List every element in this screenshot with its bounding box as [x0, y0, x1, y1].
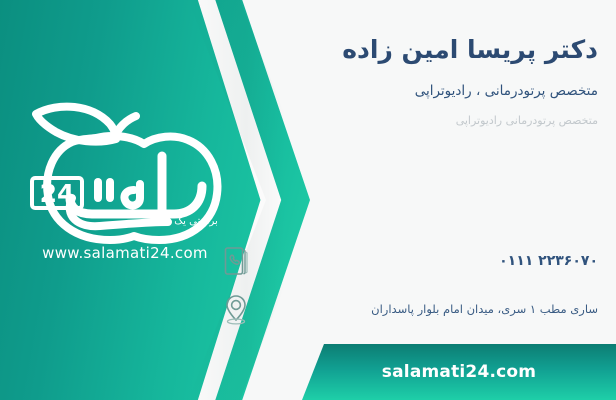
footer-banner: salamati24.com — [302, 344, 616, 400]
logo-tagline: براحتی یک لبخند — [132, 216, 236, 227]
doctor-name: دکتر پریسا امین زاده — [220, 34, 598, 65]
brand-logo: 24 براحتی یک لبخند www.salamati24.com — [14, 98, 236, 278]
contact-list: ۲۲۳۶۰۷۰ ۰۱۱۱ ساری مطب ۱ سری، میدان امام … — [220, 244, 598, 340]
doctor-specialty: متخصص پرتودرمانی ، رادیوتراپی — [220, 81, 598, 101]
contact-row-phone: ۲۲۳۶۰۷۰ ۰۱۱۱ — [220, 244, 598, 278]
logo-badge-number: 24 — [40, 179, 75, 208]
address-text: ساری مطب ۱ سری، میدان امام بلوار پاسدارا… — [264, 302, 598, 316]
logo-website-url: www.salamati24.com — [14, 244, 236, 262]
business-card: 24 براحتی یک لبخند www.salamati24.com دک… — [0, 0, 616, 400]
doctor-specialty-secondary: متخصص پرتودرمانی رادیوتراپی — [220, 113, 598, 130]
phone-book-icon — [220, 244, 252, 278]
location-pin-icon — [220, 292, 252, 326]
phone-number: ۲۲۳۶۰۷۰ ۰۱۱۱ — [264, 253, 598, 269]
contact-row-address: ساری مطب ۱ سری، میدان امام بلوار پاسدارا… — [220, 292, 598, 326]
doctor-info-block: دکتر پریسا امین زاده متخصص پرتودرمانی ، … — [220, 34, 598, 129]
footer-website-url: salamati24.com — [382, 362, 536, 382]
